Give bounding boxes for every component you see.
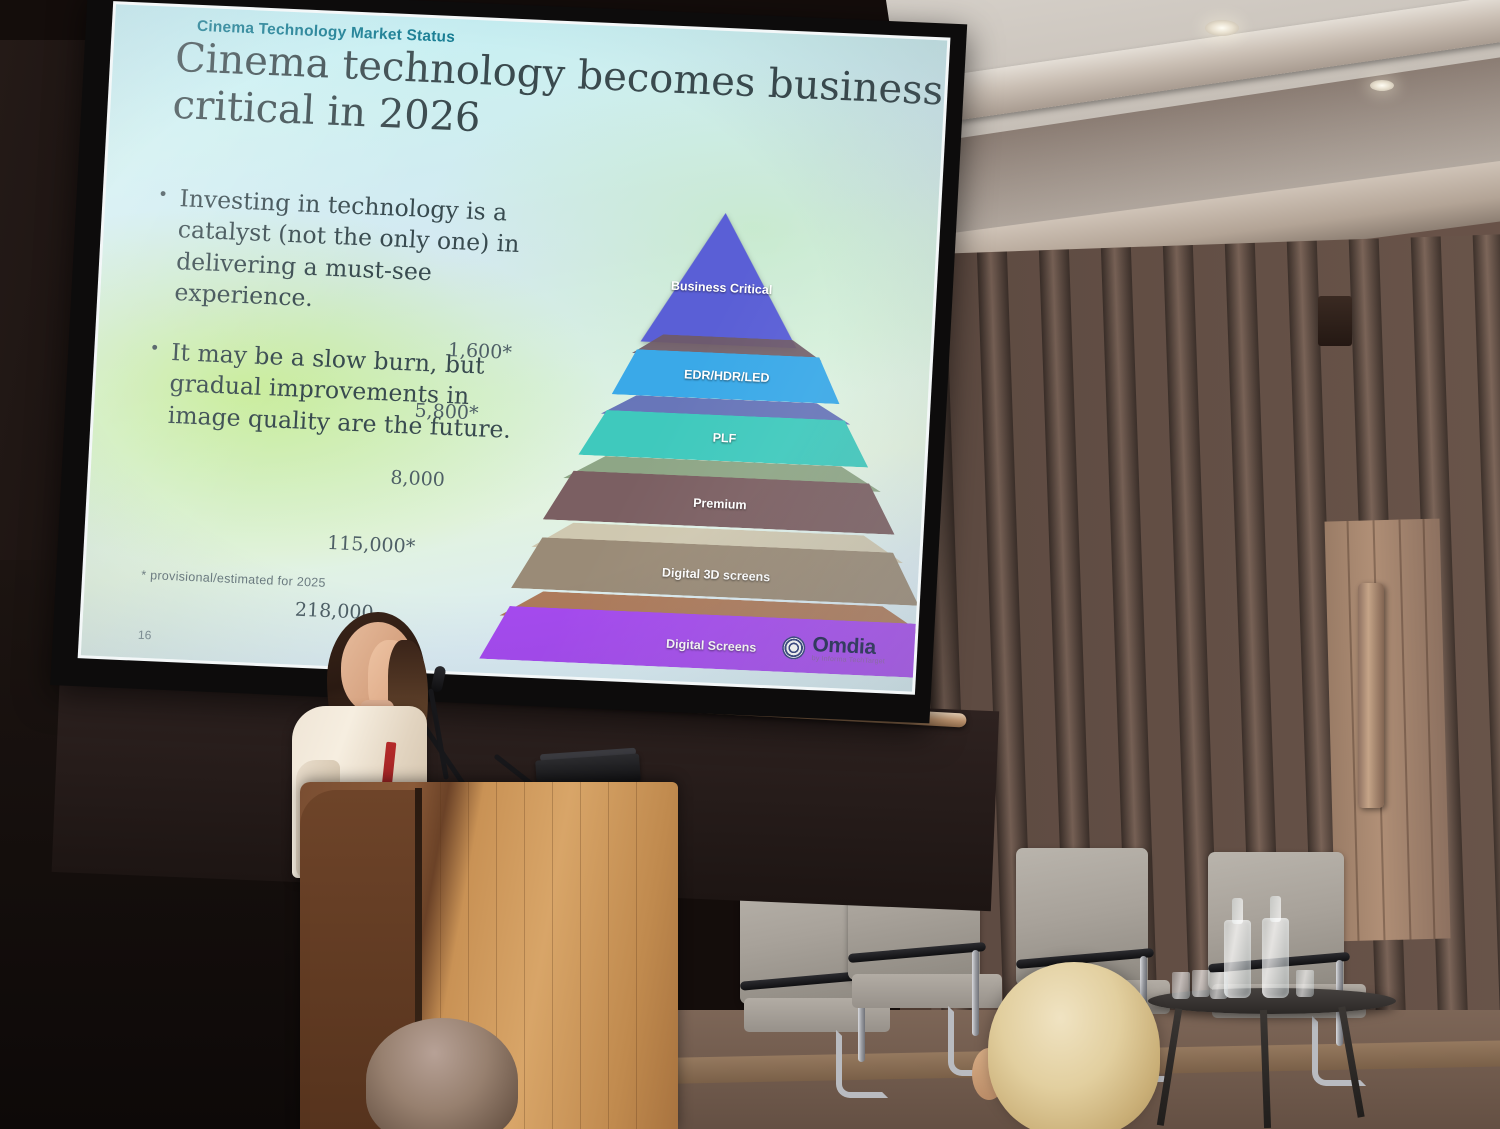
slide-bullet-list: • Investing in technology is a catalyst … [146,182,551,475]
projection-screen: Cinema Technology Market Status Cinema t… [50,0,967,723]
pyramid-value-3: 8,000 [314,463,445,491]
pyramid-value-5: 218,000 [213,595,374,624]
pyramid-value-4: 115,000* [255,529,416,558]
drinking-glass [1172,972,1190,999]
pyramid-chart: Business Critical EDR/HDR/LED PLF [512,201,935,658]
bottle-neck [1232,898,1243,924]
omdia-mark-icon [782,636,806,660]
slide-title: Cinema technology becomes business criti… [171,35,947,163]
water-bottle [1224,920,1251,998]
slide-page-number: 16 [138,628,152,643]
drinking-glass [1210,972,1228,999]
drinking-glass [1296,970,1314,997]
screenshot-root: Cinema Technology Market Status Cinema t… [0,0,1500,1129]
drinking-glass [1192,970,1210,997]
ceiling-downlight-icon [1370,80,1394,91]
audience-head-blonde [988,962,1160,1129]
wall-mounted-speaker [1358,583,1384,808]
ceiling-downlight-icon [1205,20,1239,36]
screen-border: Cinema Technology Market Status Cinema t… [78,1,951,695]
bullet-text: Investing in technology is a catalyst (n… [174,183,550,325]
slide-content: Cinema Technology Market Status Cinema t… [81,4,948,691]
list-item: • Investing in technology is a catalyst … [154,182,550,325]
ceiling-speaker-box [1318,296,1352,346]
water-bottle [1262,918,1289,998]
omdia-logo: Omdia by Informa TechTarget [782,634,887,665]
slide-footnote: * provisional/estimated for 2025 [141,568,326,590]
bottle-neck [1270,896,1281,922]
